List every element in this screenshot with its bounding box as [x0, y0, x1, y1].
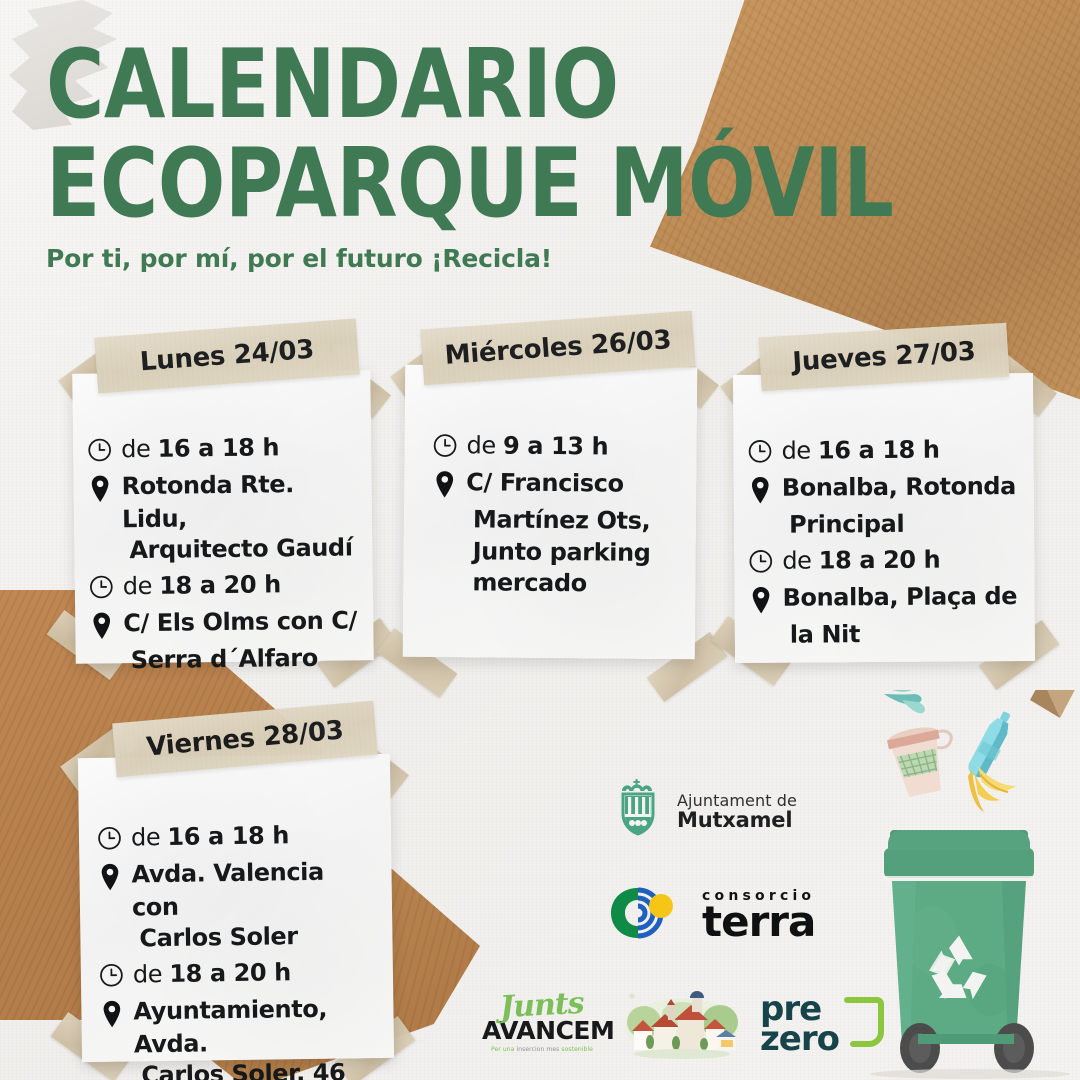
entry-place-cont: la Nit [749, 617, 1019, 652]
card-date-label: Miércoles 26/03 [444, 325, 672, 371]
junts-tagline-a: Per una [491, 1046, 516, 1053]
mutxamel-wordmark: Ajuntament de Mutxamel [677, 792, 797, 832]
clock-icon [99, 962, 124, 992]
schedule-entry: de 16 a 18 h [747, 433, 1017, 469]
entry-time: de 16 a 18 h [131, 819, 289, 854]
page-subtitle: Por ti, por mí, por el futuro ¡Recicla! [46, 244, 996, 273]
card-date-label: Viernes 28/03 [145, 715, 345, 762]
prezero-line-2: zero [760, 1025, 839, 1054]
mutxamel-crest-icon [612, 778, 664, 845]
schedule-entry: de 18 a 20 h [748, 543, 1018, 579]
terra-line-2: terra [702, 901, 815, 943]
poster-header: CALENDARIO ECOPARQUE MÓVIL Por ti, por m… [46, 40, 996, 273]
entry-time: de 18 a 20 h [123, 568, 281, 603]
schedule-card: de 16 a 18 h Bonalba, Rotonda Principal … [733, 373, 1035, 663]
coffee-cup-item [886, 721, 962, 799]
entry-place: Bonalba, Plaça de [782, 580, 1017, 614]
pin-icon [89, 611, 114, 645]
schedule-entry: Rotonda Rte. Lidu, [87, 467, 356, 536]
mutxamel-line-1: Ajuntament de [677, 792, 797, 809]
entry-place: Bonalba, Rotonda [782, 470, 1016, 504]
entry-place-cont: Principal [748, 507, 1018, 542]
entry-place-cont: Junto parking [432, 535, 680, 570]
mutxamel-line-2: Mutxamel [677, 809, 797, 832]
junts-tagline-c: sostenible [559, 1046, 593, 1053]
water-bottle-item [965, 708, 1018, 781]
entry-place: C/ Els Olms con C/ [123, 604, 357, 639]
plastic-bag-item [878, 690, 925, 713]
entry-place: Avda. Valencia con [131, 855, 376, 924]
recycling-bin-illustration [862, 690, 1080, 1080]
entry-place-cont: Serra d´Alfaro [90, 641, 358, 677]
logo-consorcio-terra: consorcio terra [608, 884, 815, 947]
junts-tagline: Per una insercion mes sostenible [482, 1046, 602, 1053]
village-icon [618, 988, 746, 1060]
pin-icon [99, 999, 124, 1033]
card-date-label: Jueves 27/03 [792, 337, 977, 378]
clock-icon [747, 439, 772, 469]
poster-canvas: CALENDARIO ECOPARQUE MÓVIL Por ti, por m… [0, 0, 1080, 1080]
clock-icon [97, 826, 122, 856]
junts-tagline-b: insercion mes [516, 1046, 559, 1053]
pin-icon [748, 476, 773, 510]
schedule-entry: C/ Els Olms con C/ [89, 604, 357, 645]
entry-time: de 16 a 18 h [781, 434, 939, 468]
schedule-entry: de 16 a 18 h [87, 430, 355, 467]
clock-icon [87, 437, 112, 467]
prezero-wordmark: pre zero [760, 995, 839, 1053]
schedule-card: de 16 a 18 h Avda. Valencia con Carlos S… [78, 754, 394, 1062]
schedule-card: de 16 a 18 h Rotonda Rte. Lidu, Arquitec… [72, 370, 374, 664]
terra-mark-icon [608, 884, 694, 947]
entry-place-cont: Carlos Soler [98, 919, 376, 956]
pin-icon [748, 585, 773, 619]
pin-icon [87, 474, 112, 508]
clock-icon [748, 548, 773, 578]
entry-place-cont: Martínez Ots, [432, 503, 680, 538]
page-title-line-1: CALENDARIO [46, 40, 1015, 131]
schedule-entry: Bonalba, Rotonda [748, 470, 1018, 510]
entry-place: Rotonda Rte. Lidu, [121, 467, 356, 535]
schedule-entry: Ayuntamiento, Avda. [99, 992, 378, 1061]
card-body: de 16 a 18 h Avda. Valencia con Carlos S… [78, 754, 395, 1080]
entry-place-cont: Carlos Soler, 46 [100, 1056, 378, 1080]
entry-place: C/ Francisco [466, 466, 624, 500]
schedule-entry: de 18 a 20 h [99, 955, 377, 993]
schedule-entry: de 18 a 20 h [89, 567, 357, 604]
bin-graphic [884, 830, 1034, 1073]
entry-time: de 18 a 20 h [133, 956, 291, 991]
kraft-bag-item [1030, 690, 1078, 718]
clock-icon [89, 574, 114, 604]
terra-wordmark: consorcio terra [702, 889, 815, 943]
card-body: de 9 a 13 h C/ Francisco Martínez Ots, J… [403, 365, 697, 618]
pin-icon [432, 470, 457, 504]
logo-village-illustration [618, 988, 746, 1065]
card-date-label: Lunes 24/03 [139, 335, 315, 378]
page-title-line-2: ECOPARQUE MÓVIL [46, 139, 1015, 230]
logo-junts-avancem: Junts AVANCEM Per una insercion mes sost… [482, 988, 602, 1053]
logo-ajuntament-mutxamel: Ajuntament de Mutxamel [612, 778, 797, 845]
card-body: de 16 a 18 h Rotonda Rte. Lidu, Arquitec… [72, 370, 374, 694]
schedule-entry: de 9 a 13 h [432, 429, 680, 465]
schedule-card: de 9 a 13 h C/ Francisco Martínez Ots, J… [403, 365, 698, 660]
pin-icon [97, 863, 122, 897]
entry-place: Ayuntamiento, Avda. [133, 992, 378, 1061]
entry-time: de 9 a 13 h [466, 429, 608, 463]
schedule-entry: Avda. Valencia con [97, 855, 376, 924]
card-body: de 16 a 18 h Bonalba, Rotonda Principal … [733, 373, 1035, 668]
schedule-entry: C/ Francisco [432, 466, 680, 506]
schedule-entry: Bonalba, Plaça de [748, 580, 1018, 620]
entry-time: de 16 a 18 h [121, 431, 279, 466]
entry-place-cont: Arquitecto Gaudí [88, 532, 356, 568]
entry-time: de 18 a 20 h [782, 543, 940, 577]
schedule-entry: de 16 a 18 h [97, 818, 375, 856]
junts-script-text: Junts [499, 986, 584, 1025]
clock-icon [432, 433, 457, 463]
entry-place-cont: mercado [431, 566, 679, 601]
